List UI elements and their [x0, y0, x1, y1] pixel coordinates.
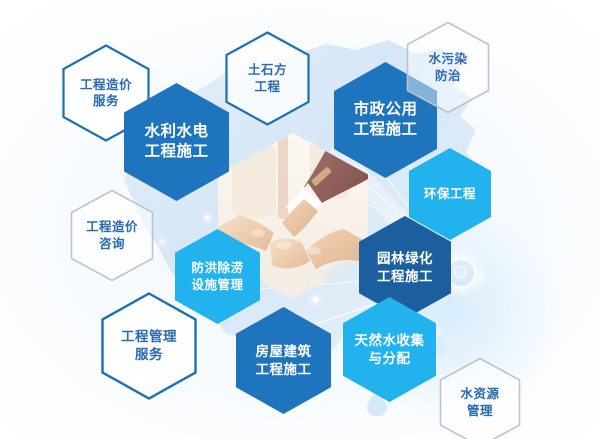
infographic-canvas: 工程造价 服务 土石方 工程 水利水电 工程施工 市政公用 工程施工 水污染 防… [0, 0, 600, 439]
hex-label: 环保工程 [424, 186, 476, 203]
hex-gongcheng-guanli-fuwu[interactable]: 工程管理 服务 [101, 292, 197, 400]
sparkle-dot [205, 216, 209, 220]
sparkle-dot [313, 297, 318, 302]
hex-label: 房屋建筑 工程施工 [256, 343, 312, 379]
hex-label: 园林绿化 工程施工 [377, 250, 433, 286]
sparkle-dot [480, 276, 483, 279]
hexagon-outline-shape [225, 31, 310, 126]
hex-label: 防洪除涝 设施管理 [191, 260, 243, 293]
hexagon-outline-shape [101, 292, 197, 400]
hex-fangwu-jianzhu[interactable]: 房屋建筑 工程施工 [236, 307, 331, 414]
hex-shuiziyuan-guanli[interactable]: 水资源 管理 [439, 357, 521, 439]
hex-tianranshui-shouji[interactable]: 天然水收集 与分配 [343, 297, 436, 402]
hex-shuiwuran-fangzhi[interactable]: 水污染 防治 [406, 21, 490, 114]
hexagon-outline-shape [439, 357, 521, 439]
sparkle-dot [161, 240, 164, 243]
hex-gongcheng-zaojia-zixun[interactable]: 工程造价 咨询 [70, 189, 154, 282]
hex-label: 天然水收集 与分配 [355, 332, 425, 368]
hexagon-outline-shape [406, 21, 490, 114]
hexagon-outline-shape [70, 189, 154, 282]
hex-label: 水利水电 工程施工 [144, 122, 208, 163]
hex-tushifang-gongcheng[interactable]: 土石方 工程 [225, 31, 310, 126]
